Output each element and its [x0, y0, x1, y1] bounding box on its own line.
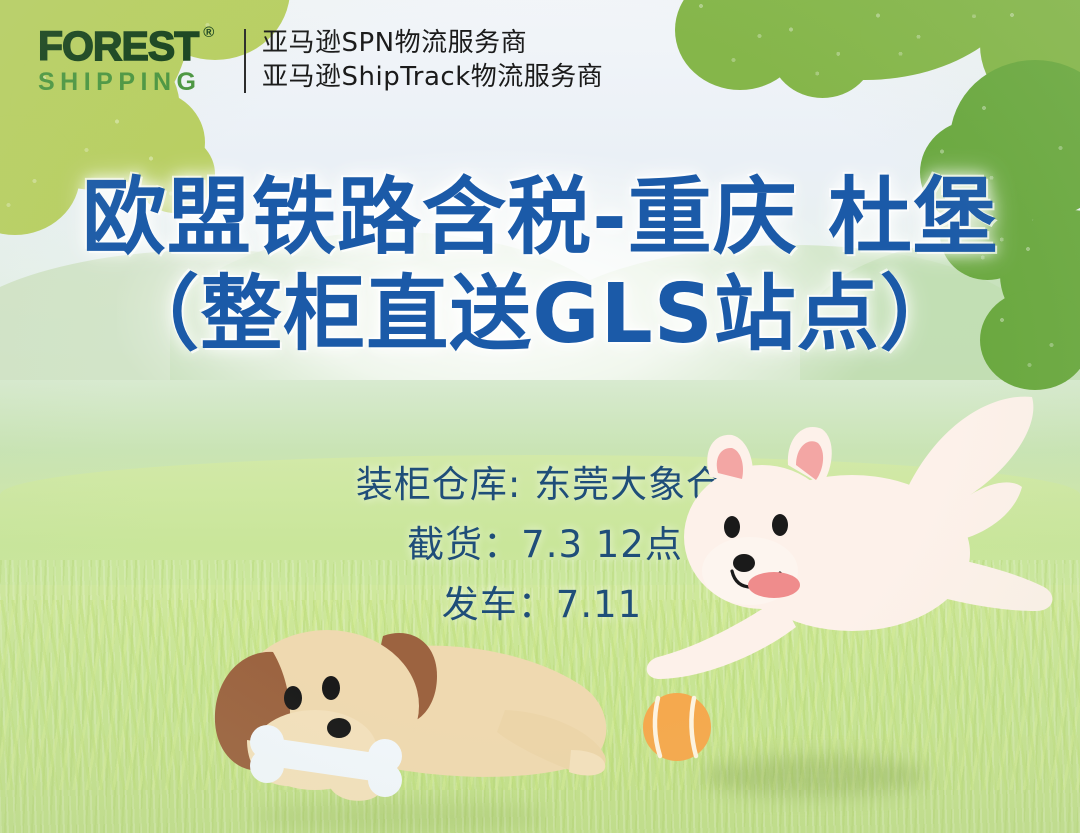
poster-canvas: FOREST ® SHIPPING 亚马逊SPN物流服务商 亚马逊ShipTra…	[0, 0, 1080, 833]
vignette-overlay	[0, 0, 1080, 833]
